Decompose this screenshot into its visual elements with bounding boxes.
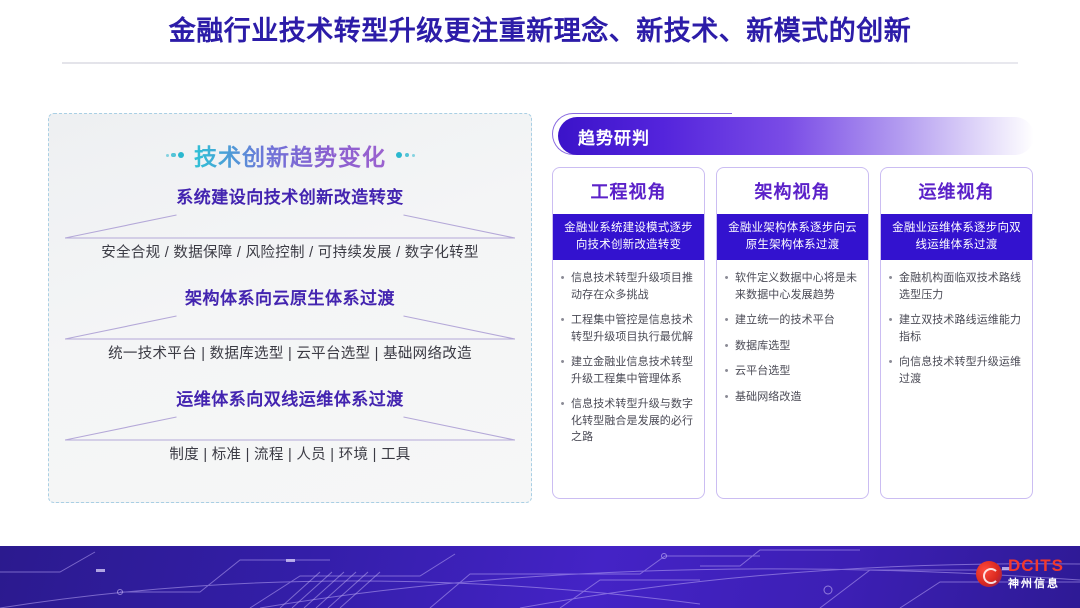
slide-root: 金融行业技术转型升级更注重新理念、新技术、新模式的创新 技术创新趋势变化 系统建… [0, 0, 1080, 608]
list-item: • 基础网络改造 [723, 389, 860, 406]
bullet-text: 数据库选型 [735, 338, 791, 355]
trend-items: 制度 | 标准 | 流程 | 人员 | 环境 | 工具 [65, 442, 515, 468]
section-banner: 趋势研判 [552, 113, 1034, 155]
bullet-dot-icon: • [559, 312, 566, 345]
list-item: • 信息技术转型升级项目推动存在众多挑战 [559, 270, 696, 303]
list-item: • 云平台选型 [723, 363, 860, 380]
bullet-text: 金融机构面临双技术路线选型压力 [899, 270, 1024, 303]
list-item: • 软件定义数据中心将是未来数据中心发展趋势 [723, 270, 860, 303]
page-title-wrap: 金融行业技术转型升级更注重新理念、新技术、新模式的创新 [0, 10, 1080, 52]
bullet-dot-icon: • [559, 396, 566, 446]
funnel-shape-icon [65, 315, 515, 340]
bullet-dot-icon: • [723, 363, 730, 380]
card-body: • 金融机构面临双技术路线选型压力 • 建立双技术路线运维能力指标 • 向信息技… [881, 260, 1032, 498]
banner-label: 趋势研判 [578, 124, 650, 149]
bullet-text: 信息技术转型升级与数字化转型融合是发展的必行之路 [571, 396, 696, 446]
trend-block: 系统建设向技术创新改造转变 安全合规 / 数据保障 / 风险控制 / 可持续发展… [65, 185, 515, 266]
bullet-text: 工程集中管控是信息技术转型升级项目执行最优解 [571, 312, 696, 345]
bullet-text: 信息技术转型升级项目推动存在众多挑战 [571, 270, 696, 303]
perspective-card-list: 工程视角 金融业系统建设模式逐步向技术创新改造转变 • 信息技术转型升级项目推动… [552, 167, 1033, 499]
bullet-text: 建立金融业信息技术转型升级工程集中管理体系 [571, 354, 696, 387]
trend-heading: 运维体系向双线运维体系过渡 [65, 387, 515, 413]
bullet-dot-icon: • [723, 270, 730, 303]
list-item: • 金融机构面临双技术路线选型压力 [887, 270, 1024, 303]
footer-band: DCITS 神州信息 [0, 546, 1080, 608]
bullet-dot-icon: • [723, 338, 730, 355]
logo-en-text: DCITS [1008, 556, 1064, 575]
bullet-dot-icon: • [887, 312, 894, 345]
bullet-text: 云平台选型 [735, 363, 791, 380]
bullet-dot-icon: • [887, 270, 894, 303]
bullet-dot-icon: • [723, 389, 730, 406]
trend-judgement-panel: 趋势研判 工程视角 金融业系统建设模式逐步向技术创新改造转变 • 信息技术转型升… [552, 113, 1034, 503]
card-subtitle: 金融业系统建设模式逐步向技术创新改造转变 [553, 214, 704, 260]
dots-icon [166, 152, 185, 158]
list-item: • 建立统一的技术平台 [723, 312, 860, 329]
bullet-text: 建立统一的技术平台 [735, 312, 835, 329]
list-item: • 建立金融业信息技术转型升级工程集中管理体系 [559, 354, 696, 387]
dots-icon [396, 152, 415, 158]
perspective-card-architecture[interactable]: 架构视角 金融业架构体系逐步向云原生架构体系过渡 • 软件定义数据中心将是未来数… [716, 167, 869, 499]
trend-block: 运维体系向双线运维体系过渡 制度 | 标准 | 流程 | 人员 | 环境 | 工… [65, 387, 515, 468]
funnel-shape-icon [65, 416, 515, 441]
logo-cn-text: 神州信息 [1008, 578, 1060, 590]
list-item: • 信息技术转型升级与数字化转型融合是发展的必行之路 [559, 396, 696, 446]
logo-text: DCITS 神州信息 [1008, 557, 1064, 591]
perspective-card-operations[interactable]: 运维视角 金融业运维体系逐步向双线运维体系过渡 • 金融机构面临双技术路线选型压… [880, 167, 1033, 499]
trend-block: 架构体系向云原生体系过渡 统一技术平台 | 数据库选型 | 云平台选型 | 基础… [65, 286, 515, 367]
trend-items: 统一技术平台 | 数据库选型 | 云平台选型 | 基础网络改造 [65, 341, 515, 367]
card-body: • 信息技术转型升级项目推动存在众多挑战 • 工程集中管控是信息技术转型升级项目… [553, 260, 704, 498]
trend-heading: 系统建设向技术创新改造转变 [65, 185, 515, 211]
banner-bar: 趋势研判 [558, 117, 1034, 155]
trend-change-panel: 技术创新趋势变化 系统建设向技术创新改造转变 安全合规 / 数据保障 / 风险控… [48, 113, 532, 503]
bullet-text: 向信息技术转型升级运维过渡 [899, 354, 1024, 387]
title-divider [62, 62, 1018, 64]
trend-change-title: 技术创新趋势变化 [194, 138, 386, 172]
card-title: 架构视角 [717, 168, 868, 214]
funnel-shape-icon [65, 214, 515, 239]
card-title: 工程视角 [553, 168, 704, 214]
dcits-swirl-icon [976, 561, 1002, 587]
list-item: • 向信息技术转型升级运维过渡 [887, 354, 1024, 387]
trend-items: 安全合规 / 数据保障 / 风险控制 / 可持续发展 / 数字化转型 [65, 240, 515, 266]
bullet-dot-icon: • [887, 354, 894, 387]
company-logo: DCITS 神州信息 [976, 557, 1064, 591]
list-item: • 建立双技术路线运维能力指标 [887, 312, 1024, 345]
bullet-dot-icon: • [559, 354, 566, 387]
page-title: 金融行业技术转型升级更注重新理念、新技术、新模式的创新 [0, 10, 1080, 52]
bullet-dot-icon: • [559, 270, 566, 303]
card-body: • 软件定义数据中心将是未来数据中心发展趋势 • 建立统一的技术平台 • 数据库… [717, 260, 868, 498]
bullet-dot-icon: • [723, 312, 730, 329]
list-item: • 数据库选型 [723, 338, 860, 355]
perspective-card-engineering[interactable]: 工程视角 金融业系统建设模式逐步向技术创新改造转变 • 信息技术转型升级项目推动… [552, 167, 705, 499]
card-subtitle: 金融业运维体系逐步向双线运维体系过渡 [881, 214, 1032, 260]
card-subtitle: 金融业架构体系逐步向云原生架构体系过渡 [717, 214, 868, 260]
list-item: • 工程集中管控是信息技术转型升级项目执行最优解 [559, 312, 696, 345]
bullet-text: 软件定义数据中心将是未来数据中心发展趋势 [735, 270, 860, 303]
circuit-pattern-icon [0, 546, 1080, 608]
bullet-text: 建立双技术路线运维能力指标 [899, 312, 1024, 345]
trend-heading: 架构体系向云原生体系过渡 [65, 286, 515, 312]
bullet-text: 基础网络改造 [735, 389, 802, 406]
card-title: 运维视角 [881, 168, 1032, 214]
trend-change-header: 技术创新趋势变化 [65, 138, 515, 172]
